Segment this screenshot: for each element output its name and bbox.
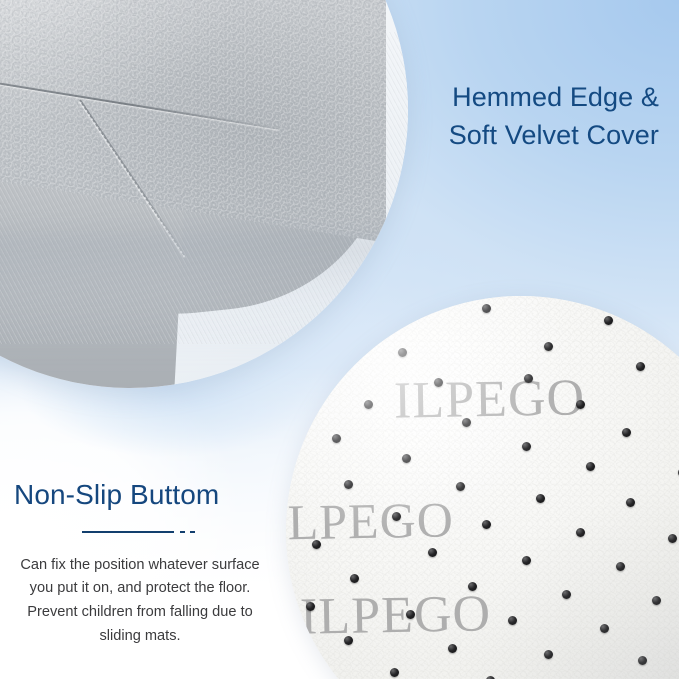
heading-divider bbox=[82, 528, 202, 538]
feature-body-non-slip: Can fix the position whatever surface yo… bbox=[14, 554, 266, 649]
product-feature-infographic: ILPEGO ILPEGO ILPEGO bbox=[0, 0, 679, 679]
heading-line-2: Soft Velvet Cover bbox=[359, 116, 659, 154]
feature-heading-hemmed-edge: Hemmed Edge & Soft Velvet Cover bbox=[359, 78, 659, 155]
heading-line-1: Hemmed Edge & bbox=[359, 78, 659, 116]
photo-non-slip-mat: ILPEGO ILPEGO ILPEGO bbox=[286, 296, 679, 679]
divider-line bbox=[82, 531, 174, 533]
mat-lighting-overlay bbox=[286, 296, 679, 679]
body-line-4: sliding mats. bbox=[14, 625, 266, 649]
body-line-2: you put it on, and protect the floor. bbox=[14, 577, 266, 601]
feature-block-non-slip: Non-Slip Buttom Can fix the position wha… bbox=[14, 478, 266, 648]
divider-dash-1 bbox=[180, 531, 185, 533]
feature-heading-non-slip: Non-Slip Buttom bbox=[14, 478, 266, 512]
body-line-3: Prevent children from falling due to bbox=[14, 601, 266, 625]
divider-dash-2 bbox=[190, 531, 195, 533]
body-line-1: Can fix the position whatever surface bbox=[14, 554, 266, 578]
